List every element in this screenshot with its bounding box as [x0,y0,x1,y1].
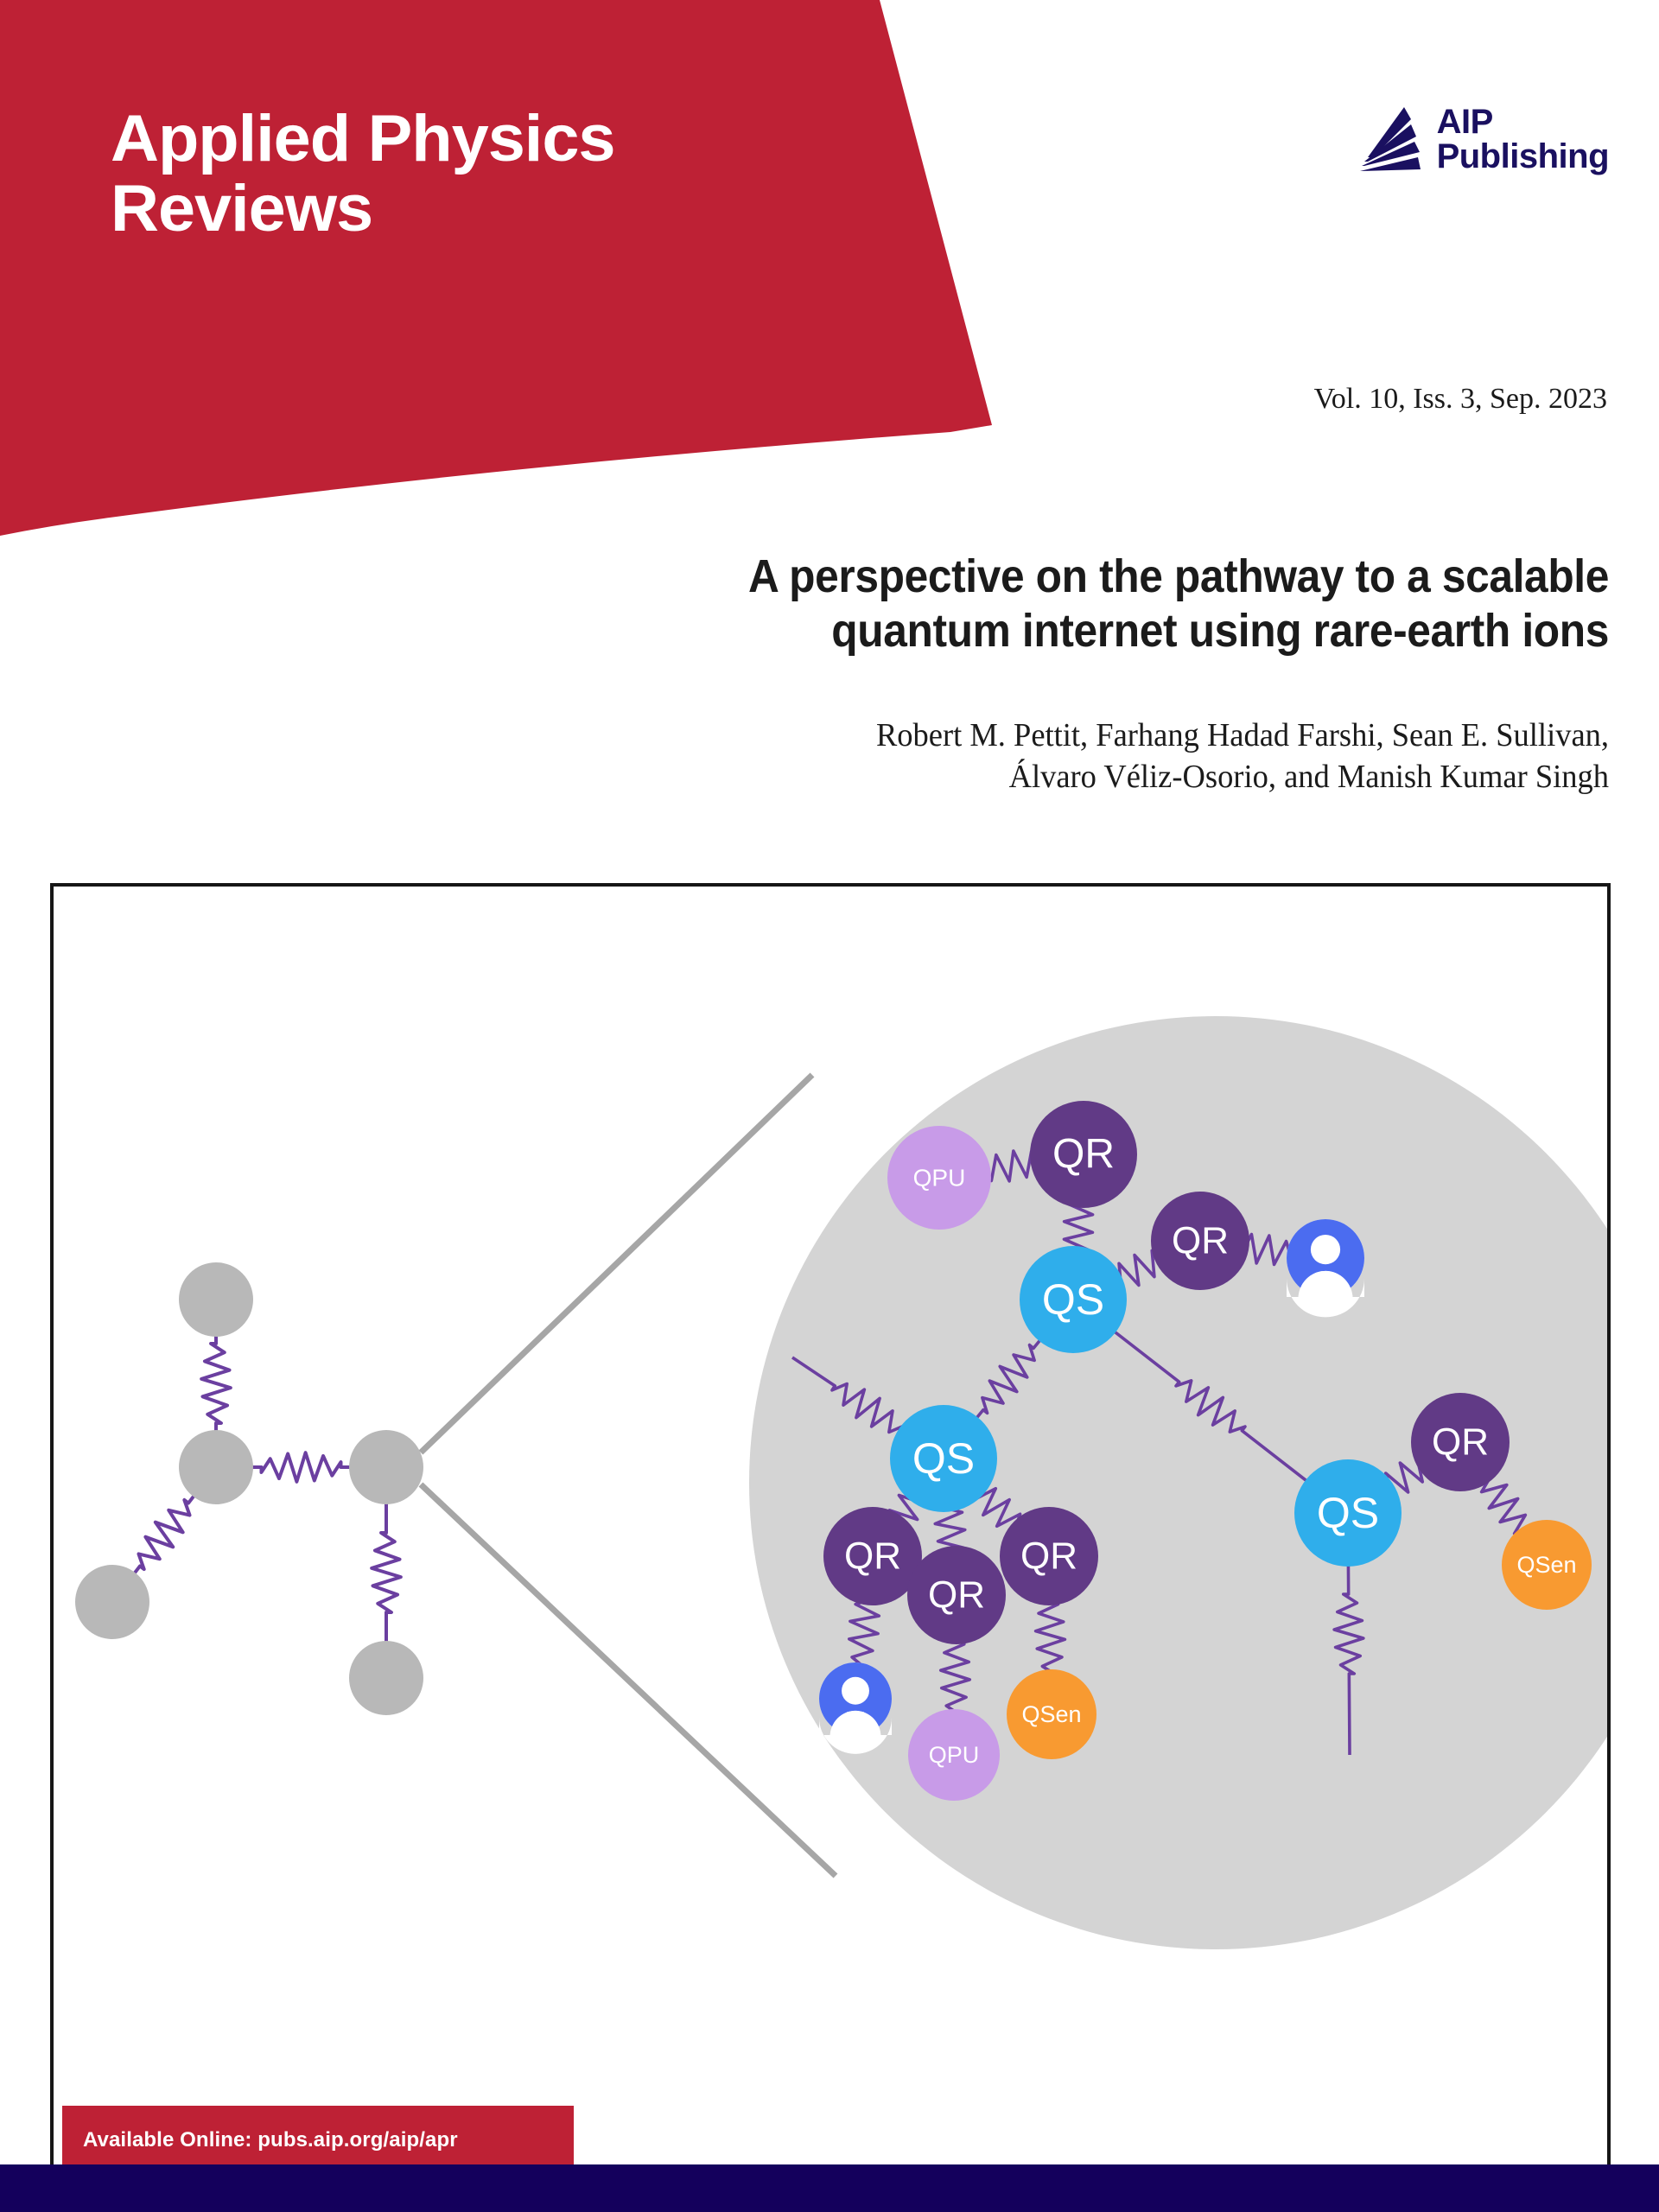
quantum-network-diagram: QPUQRQSQRQSQRQRQRQPUQSenQSQRQSen [54,887,1607,2165]
network-node-qr-8[interactable]: QR [1000,1507,1098,1605]
masthead-background [0,0,1037,553]
gray-node-top [179,1262,253,1337]
network-node-qpu-0[interactable]: QPU [887,1126,991,1230]
network-node-qpu-10[interactable]: QPU [908,1709,1000,1801]
article-authors: Robert M. Pettit, Farhang Hadad Farshi, … [313,715,1609,798]
network-node-qr-13[interactable]: QR [1411,1393,1510,1491]
node-label-qs: QS [1042,1275,1104,1324]
network-node-qr-3[interactable]: QR [1151,1192,1249,1290]
network-node-qs-12[interactable]: QS [1294,1459,1402,1567]
node-label-qr: QR [844,1535,901,1578]
network-node-qsen-14[interactable]: QSen [1502,1520,1592,1610]
gray-node-left [75,1565,149,1639]
cover-figure-frame: QPUQRQSQRQSQRQRQRQPUQSenQSQRQSen [50,883,1611,2169]
network-node-qsen-11[interactable]: QSen [1007,1669,1096,1759]
aip-fan-icon [1359,102,1425,176]
availability-label: Available Online: pubs.aip.org/aip/apr [62,2128,458,2152]
aip-publishing-logo: AIP Publishing [1359,102,1609,176]
magnifier-leader-line-0 [421,1075,812,1452]
article-title: A perspective on the pathway to a scalab… [288,550,1609,658]
network-node-qr-1[interactable]: QR [1030,1101,1137,1208]
network-node-qr-6[interactable]: QR [823,1507,922,1605]
issue-line: Vol. 10, Iss. 3, Sep. 2023 [1314,383,1607,416]
node-label-qr: QR [1172,1220,1229,1262]
node-label-qr: QR [928,1574,985,1617]
user-head-icon [842,1677,869,1705]
footer-bar [0,2164,1659,2212]
network-node-user-9[interactable] [819,1662,892,1754]
node-label-qr: QR [1052,1132,1115,1178]
node-label-qr: QR [1432,1421,1489,1464]
journal-title: Applied Physics Reviews [111,104,615,245]
node-label-qpu: QPU [913,1165,966,1192]
node-label-qs: QS [912,1434,975,1483]
node-label-qsen: QSen [1021,1701,1081,1727]
gray-node-bottom [349,1641,423,1715]
node-label-qs: QS [1317,1489,1379,1537]
network-node-qs-5[interactable]: QS [890,1405,997,1512]
network-node-user-4[interactable] [1287,1219,1364,1317]
node-label-qsen: QSen [1516,1552,1576,1578]
overview-node-group [75,1262,423,1715]
network-node-qr-7[interactable]: QR [907,1546,1006,1644]
node-label-qpu: QPU [929,1742,980,1768]
masthead-red-shape [0,0,992,536]
node-label-qr: QR [1020,1535,1077,1578]
gray-node-middle [179,1430,253,1504]
user-head-icon [1311,1235,1340,1264]
network-node-qs-2[interactable]: QS [1020,1246,1127,1353]
gray-node-hub [349,1430,423,1504]
aip-wordmark: AIP Publishing [1437,105,1609,174]
